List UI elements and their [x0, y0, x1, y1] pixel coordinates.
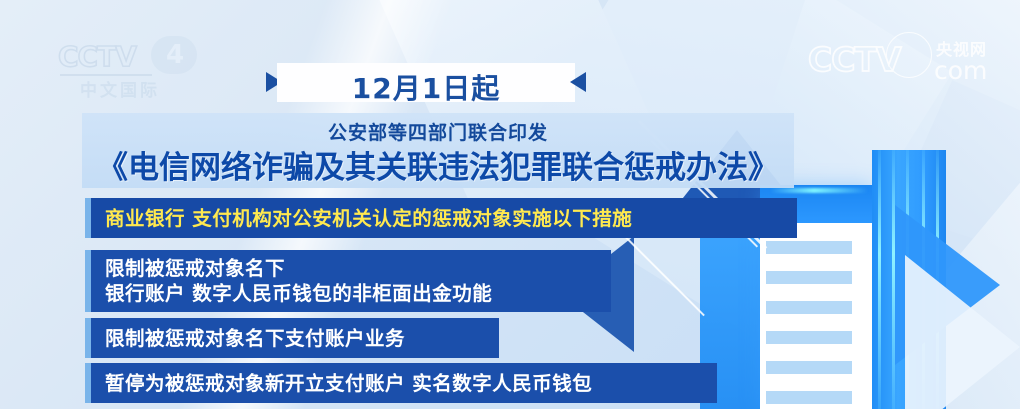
broadcast-graphic: CCTV 4 中文国际 CCTV 央视网 com 12月1日起 公安部等四部门联…	[0, 0, 1020, 409]
cctv4-chinese-label: 中文国际	[80, 76, 160, 101]
cctv4-number: 4	[166, 40, 184, 70]
date-banner: 12月1日起	[277, 63, 575, 102]
cctv4-logo: CCTV 4 中文国际	[58, 38, 208, 94]
document-title: 《电信网络诈骗及其关联违法犯罪联合惩戒办法》	[72, 142, 804, 187]
bg-building-highlight	[770, 188, 868, 193]
cctvcom-domain-label: com	[934, 56, 987, 85]
bg-triangle-bright	[895, 205, 1000, 365]
measure-bar-body: 商业银行 支付机构对公安机关认定的惩戒对象实施以下措施	[91, 198, 797, 238]
issuer-label: 公安部等四部门联合印发	[82, 118, 794, 145]
cctvcom-logo: CCTV 央视网 com	[808, 36, 998, 84]
cctvcom-ring-icon	[886, 32, 932, 78]
date-banner-label: 12月1日起	[277, 67, 575, 107]
measure-bar-text: 限制被惩戒对象名下 银行账户 数字人民币钱包的非柜面出金功能	[105, 256, 492, 306]
measure-bar-body: 暂停为被惩戒对象新开立支付账户 实名数字人民币钱包	[91, 363, 717, 403]
measure-bar-heading: 商业银行 支付机构对公安机关认定的惩戒对象实施以下措施	[85, 198, 797, 238]
measure-bar-body: 限制被惩戒对象名下 银行账户 数字人民币钱包的非柜面出金功能	[91, 250, 611, 312]
measure-bar-item-2: 限制被惩戒对象名下支付账户业务	[85, 318, 499, 358]
measure-bar-text: 商业银行 支付机构对公安机关认定的惩戒对象实施以下措施	[105, 206, 632, 231]
measure-bar-item-1: 限制被惩戒对象名下 银行账户 数字人民币钱包的非柜面出金功能	[85, 250, 611, 312]
measure-bar-body: 限制被惩戒对象名下支付账户业务	[91, 318, 499, 358]
bg-building-tall	[872, 150, 946, 409]
measure-bar-text: 限制被惩戒对象名下支付账户业务	[105, 326, 405, 351]
bg-diagonal-line-3	[619, 230, 705, 316]
measure-bar-text: 暂停为被惩戒对象新开立支付账户 实名数字人民币钱包	[105, 371, 592, 396]
measure-bar-item-3: 暂停为被惩戒对象新开立支付账户 实名数字人民币钱包	[85, 363, 717, 403]
cctv4-number-badge: 4	[151, 36, 197, 74]
bg-wedge-pale	[905, 255, 1020, 409]
cctv4-wordmark: CCTV	[58, 40, 136, 73]
bg-polygon-lower-right	[872, 160, 1020, 409]
bg-polygon-right	[830, 80, 1020, 409]
triangle-left-icon	[570, 72, 586, 92]
